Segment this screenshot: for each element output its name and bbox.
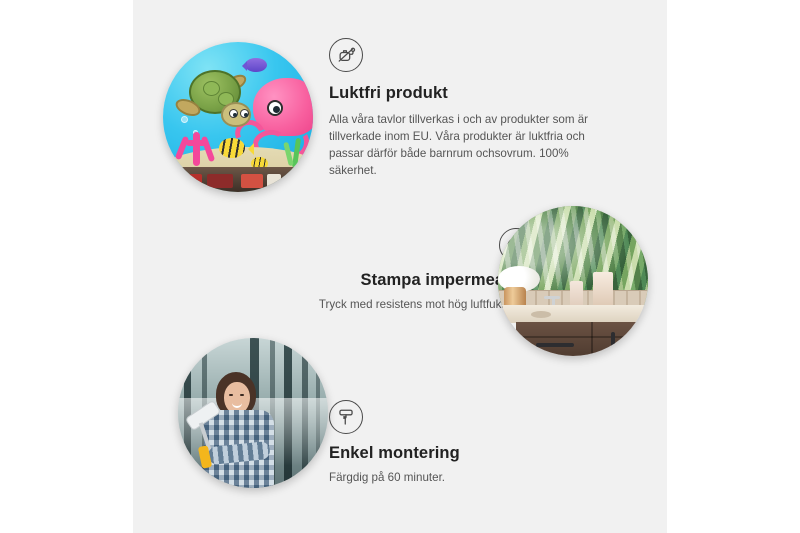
feature-title: Stampa impermeabile [203, 271, 533, 291]
room-floor-strip [163, 167, 313, 193]
feature-description: Tryck med resistens mot hög luftfuktighe… [203, 296, 533, 313]
feature-title: Enkel montering [329, 444, 609, 464]
yellow-fish-icon [219, 138, 245, 158]
feature-description: Färgdig på 60 minuter. [329, 469, 609, 486]
content-canvas: Luktfri produkt Alla våra tavlor tillver… [133, 0, 667, 533]
product-photo-ocean[interactable] [163, 42, 313, 192]
purple-fish-icon [245, 58, 267, 72]
product-photo-bathroom[interactable] [498, 206, 648, 356]
turtle-head [221, 102, 251, 127]
screenshot-root: Luktfri produkt Alla våra tavlor tillver… [0, 0, 800, 533]
bathroom-scene [498, 206, 648, 356]
bubble-icon [181, 116, 188, 123]
cabinet-handle [646, 331, 648, 350]
product-photo-woman-painter[interactable] [178, 338, 328, 488]
drawer-handle [536, 343, 573, 347]
feature-block-easy-mounting: Enkel montering Färgdig på 60 minuter. [329, 400, 609, 486]
turtle-eye [229, 109, 238, 118]
coral-icon [175, 126, 221, 166]
octopus-eye [267, 100, 283, 116]
wooden-vanity-cabinet [516, 322, 648, 357]
stone-countertop [498, 305, 648, 323]
paint-roller-icon [329, 400, 363, 434]
feature-description: Alla våra tavlor tillverkas i och av pro… [329, 111, 617, 180]
no-fragrance-icon [329, 38, 363, 72]
cabinet-handle [611, 332, 615, 350]
turtle-eye [240, 109, 249, 118]
feature-title: Luktfri produkt [329, 84, 629, 104]
ocean-scene [163, 42, 313, 192]
soap-dish [531, 311, 551, 318]
feature-block-waterproof: Stampa impermeabile Tryck med resistens … [203, 228, 533, 313]
woman-painter-scene [178, 338, 328, 488]
feature-block-odourless: Luktfri produkt Alla våra tavlor tillver… [329, 38, 629, 179]
